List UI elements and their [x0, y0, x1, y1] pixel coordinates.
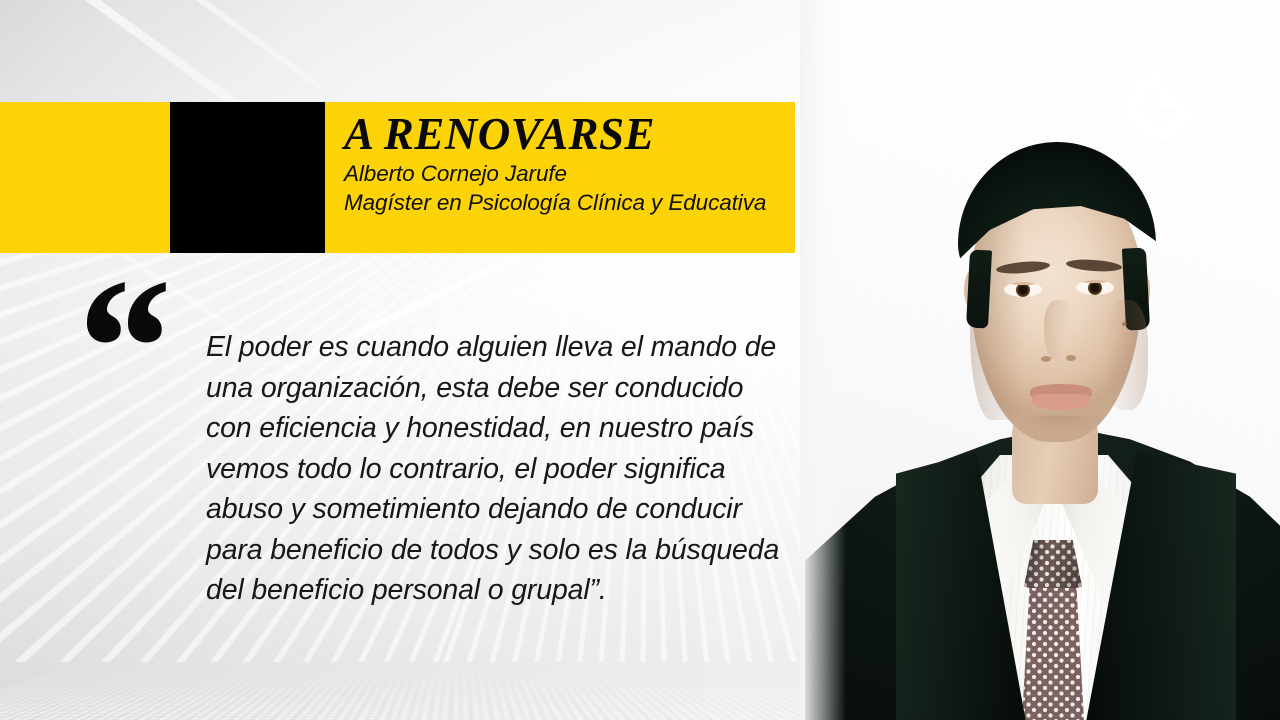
portrait-nose [1044, 300, 1074, 362]
open-quote-icon: “ [68, 249, 162, 449]
quote-text: El poder es cuando alguien lleva el mand… [206, 327, 782, 611]
portrait-photo [800, 0, 1280, 720]
portrait-iris-right [1088, 281, 1102, 295]
quote-card: A RENOVARSE Alberto Cornejo Jarufe Magís… [0, 0, 1280, 720]
tie-dot-pattern-offset [1022, 588, 1084, 720]
page-title: A RENOVARSE [344, 112, 799, 158]
portrait-sideburn-left [966, 249, 992, 328]
tie-knot-shading [1024, 540, 1082, 594]
header-black-block [170, 102, 325, 253]
portrait-nostril-left [1041, 356, 1051, 362]
portrait-edge-blend [800, 0, 846, 720]
portrait-chin-shadow [1022, 416, 1102, 432]
portrait-eyelid-right [1076, 280, 1114, 283]
author-name: Alberto Cornejo Jarufe [344, 160, 799, 189]
portrait-lower-lip [1032, 394, 1090, 410]
brand-logo [1112, 58, 1208, 154]
header-text-group: A RENOVARSE Alberto Cornejo Jarufe Magís… [344, 102, 799, 253]
portrait-eye-left [1004, 282, 1042, 297]
author-title: Magíster en Psicología Clínica y Educati… [344, 189, 799, 218]
portrait-eyelid-left [1004, 282, 1042, 285]
circular-arrow-logo-icon [1125, 66, 1204, 141]
portrait-iris-left [1016, 283, 1030, 297]
portrait-cheek-shadow [1104, 300, 1148, 410]
portrait-mole [1122, 322, 1127, 326]
portrait-nostril-right [1066, 355, 1076, 361]
portrait-tie-knot [1024, 540, 1082, 594]
portrait-tie-blade [1022, 588, 1084, 720]
portrait-eye-right [1076, 280, 1114, 295]
